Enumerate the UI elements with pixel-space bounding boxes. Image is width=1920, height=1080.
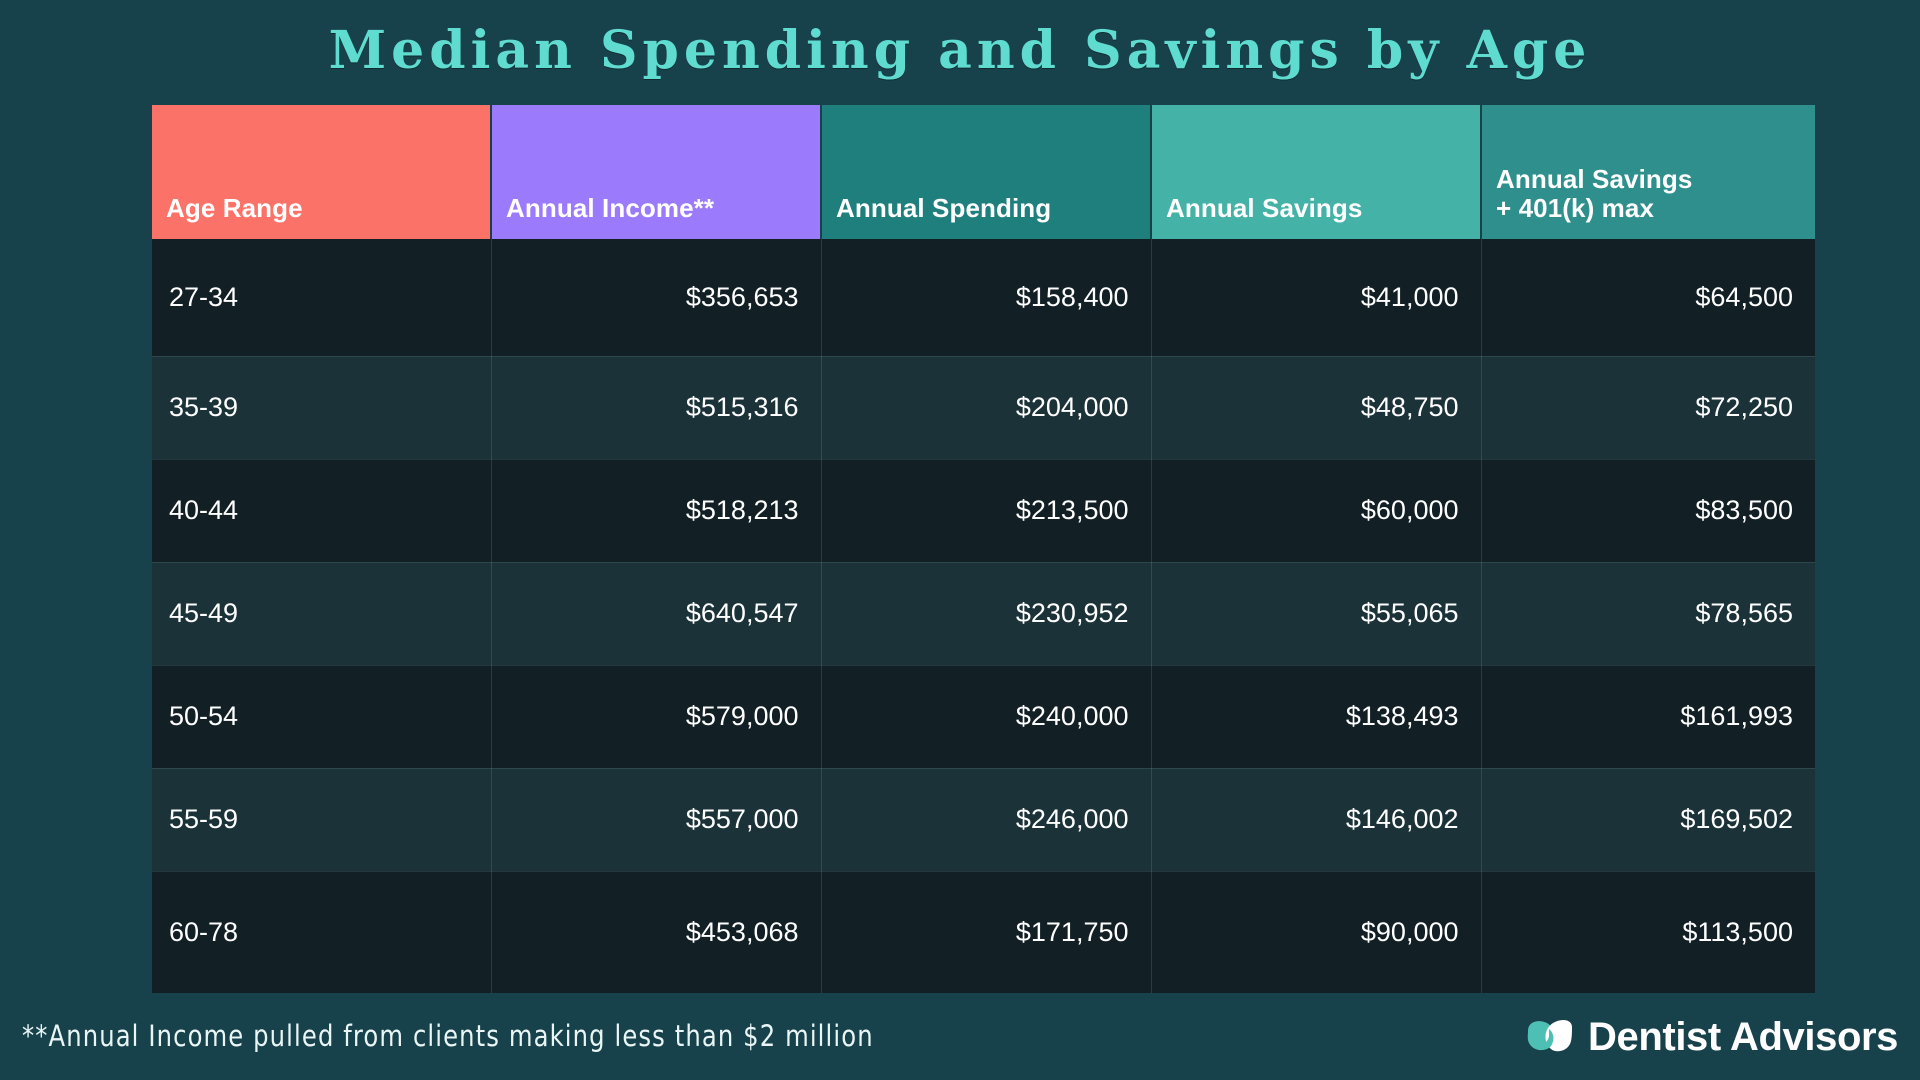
column-header-annual-income: Annual Income** (491, 105, 821, 239)
column-header-annual-savings: Annual Savings (1151, 105, 1481, 239)
table-header: Age Range Annual Income** Annual Spendin… (152, 105, 1815, 239)
column-header-age-range: Age Range (152, 105, 491, 239)
logo-text: Dentist Advisors (1588, 1015, 1898, 1060)
cell-annual-spending: $230,952 (821, 562, 1151, 665)
spending-savings-table: Age Range Annual Income** Annual Spendin… (152, 105, 1815, 993)
cell-annual-savings: $55,065 (1151, 562, 1481, 665)
cell-annual-spending: $240,000 (821, 665, 1151, 768)
cell-annual-spending: $204,000 (821, 356, 1151, 459)
cell-age-range: 35-39 (152, 356, 491, 459)
column-header-annual-savings-401k: Annual Savings + 401(k) max (1481, 105, 1815, 239)
table-row: 27-34 $356,653 $158,400 $41,000 $64,500 (152, 239, 1815, 356)
table-body: 27-34 $356,653 $158,400 $41,000 $64,500 … (152, 239, 1815, 993)
header-row: Age Range Annual Income** Annual Spendin… (152, 105, 1815, 239)
cell-annual-savings: $138,493 (1151, 665, 1481, 768)
cell-annual-savings-401k: $113,500 (1481, 871, 1815, 993)
cell-annual-savings-401k: $78,565 (1481, 562, 1815, 665)
cell-annual-savings-401k: $169,502 (1481, 768, 1815, 871)
cell-age-range: 60-78 (152, 871, 491, 993)
cell-annual-savings-401k: $83,500 (1481, 459, 1815, 562)
column-header-annual-savings-401k-line1: Annual Savings (1496, 164, 1692, 194)
cell-age-range: 45-49 (152, 562, 491, 665)
footer: **Annual Income pulled from clients maki… (0, 1005, 1920, 1080)
cell-age-range: 27-34 (152, 239, 491, 356)
brand-logo: Dentist Advisors (1525, 1015, 1898, 1060)
cell-annual-savings: $48,750 (1151, 356, 1481, 459)
cell-annual-income: $518,213 (491, 459, 821, 562)
page-title: Median Spending and Savings by Age (329, 20, 1592, 81)
table-row: 60-78 $453,068 $171,750 $90,000 $113,500 (152, 871, 1815, 993)
cell-annual-savings: $90,000 (1151, 871, 1481, 993)
cell-annual-spending: $158,400 (821, 239, 1151, 356)
table-row: 55-59 $557,000 $246,000 $146,002 $169,50… (152, 768, 1815, 871)
cell-annual-income: $640,547 (491, 562, 821, 665)
cell-annual-income: $557,000 (491, 768, 821, 871)
cell-annual-income: $356,653 (491, 239, 821, 356)
title-bar: Median Spending and Savings by Age (0, 0, 1920, 100)
cell-annual-income: $579,000 (491, 665, 821, 768)
column-header-annual-spending: Annual Spending (821, 105, 1151, 239)
cell-annual-savings-401k: $64,500 (1481, 239, 1815, 356)
cell-annual-income: $515,316 (491, 356, 821, 459)
cell-annual-savings-401k: $72,250 (1481, 356, 1815, 459)
cell-annual-spending: $171,750 (821, 871, 1151, 993)
cell-annual-savings: $41,000 (1151, 239, 1481, 356)
table-row: 35-39 $515,316 $204,000 $48,750 $72,250 (152, 356, 1815, 459)
table-container: Age Range Annual Income** Annual Spendin… (152, 105, 1815, 1000)
footnote-text: **Annual Income pulled from clients maki… (22, 1019, 874, 1053)
cell-age-range: 50-54 (152, 665, 491, 768)
table-row: 45-49 $640,547 $230,952 $55,065 $78,565 (152, 562, 1815, 665)
table-row: 40-44 $518,213 $213,500 $60,000 $83,500 (152, 459, 1815, 562)
cell-annual-spending: $213,500 (821, 459, 1151, 562)
leaf-logo-icon (1525, 1017, 1575, 1059)
table-row: 50-54 $579,000 $240,000 $138,493 $161,99… (152, 665, 1815, 768)
cell-annual-savings: $146,002 (1151, 768, 1481, 871)
column-header-annual-savings-401k-line2: + 401(k) max (1496, 193, 1654, 223)
cell-annual-savings: $60,000 (1151, 459, 1481, 562)
cell-age-range: 55-59 (152, 768, 491, 871)
cell-annual-spending: $246,000 (821, 768, 1151, 871)
cell-annual-savings-401k: $161,993 (1481, 665, 1815, 768)
cell-annual-income: $453,068 (491, 871, 821, 993)
cell-age-range: 40-44 (152, 459, 491, 562)
